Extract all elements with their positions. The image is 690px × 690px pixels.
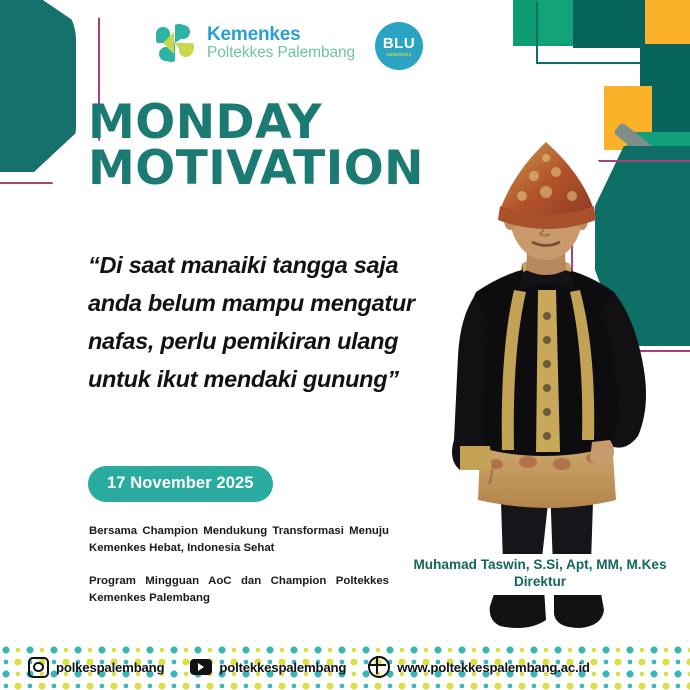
copy-paragraph-1: Bersama Champion Mendukung Transformasi … <box>89 523 389 557</box>
instagram-handle: polkespalembang <box>56 660 164 675</box>
blu-logo-text: BLU <box>383 36 415 51</box>
copy-paragraph-2: Program Mingguan AoC dan Champion Poltek… <box>89 573 389 607</box>
kemenkes-logo: Kemenkes Poltekkes Palembang <box>152 20 355 66</box>
director-name-bar: Muhamad Taswin, S.Si, Apt, MM, M.Kes Dir… <box>390 554 690 595</box>
youtube-icon <box>190 659 212 675</box>
date-badge: 17 November 2025 <box>88 466 273 502</box>
director-title: Direktur <box>390 574 690 591</box>
headline-line-1: Monday <box>88 100 468 146</box>
kemenkes-flower-logo-icon <box>152 20 198 66</box>
poster-canvas: Kemenkes Poltekkes Palembang BLU KEMENKE… <box>0 0 690 690</box>
footer-website[interactable]: www.poltekkespalembang.ac.id <box>368 656 590 678</box>
kemenkes-logo-text: Kemenkes Poltekkes Palembang <box>207 25 355 62</box>
instagram-icon <box>28 657 49 678</box>
footer-bar: polkespalembang poltekkespalembang www.p… <box>0 644 690 690</box>
website-url: www.poltekkespalembang.ac.id <box>397 660 590 675</box>
footer-youtube[interactable]: poltekkespalembang <box>190 659 346 675</box>
director-name: Muhamad Taswin, S.Si, Apt, MM, M.Kes <box>390 557 690 574</box>
footer-instagram[interactable]: polkespalembang <box>28 657 164 678</box>
motivation-quote: “Di saat manaiki tangga saja anda belum … <box>88 246 448 398</box>
globe-icon <box>368 656 390 678</box>
blu-logo-subtext: KEMENKES <box>386 52 411 57</box>
header: Kemenkes Poltekkes Palembang BLU KEMENKE… <box>0 12 690 72</box>
youtube-handle: poltekkespalembang <box>219 660 346 675</box>
kemenkes-title: Kemenkes <box>207 25 355 45</box>
kemenkes-subtitle: Poltekkes Palembang <box>207 45 355 61</box>
blu-circle-logo-icon: BLU KEMENKES <box>375 22 423 70</box>
program-copy: Bersama Champion Mendukung Transformasi … <box>89 523 389 607</box>
